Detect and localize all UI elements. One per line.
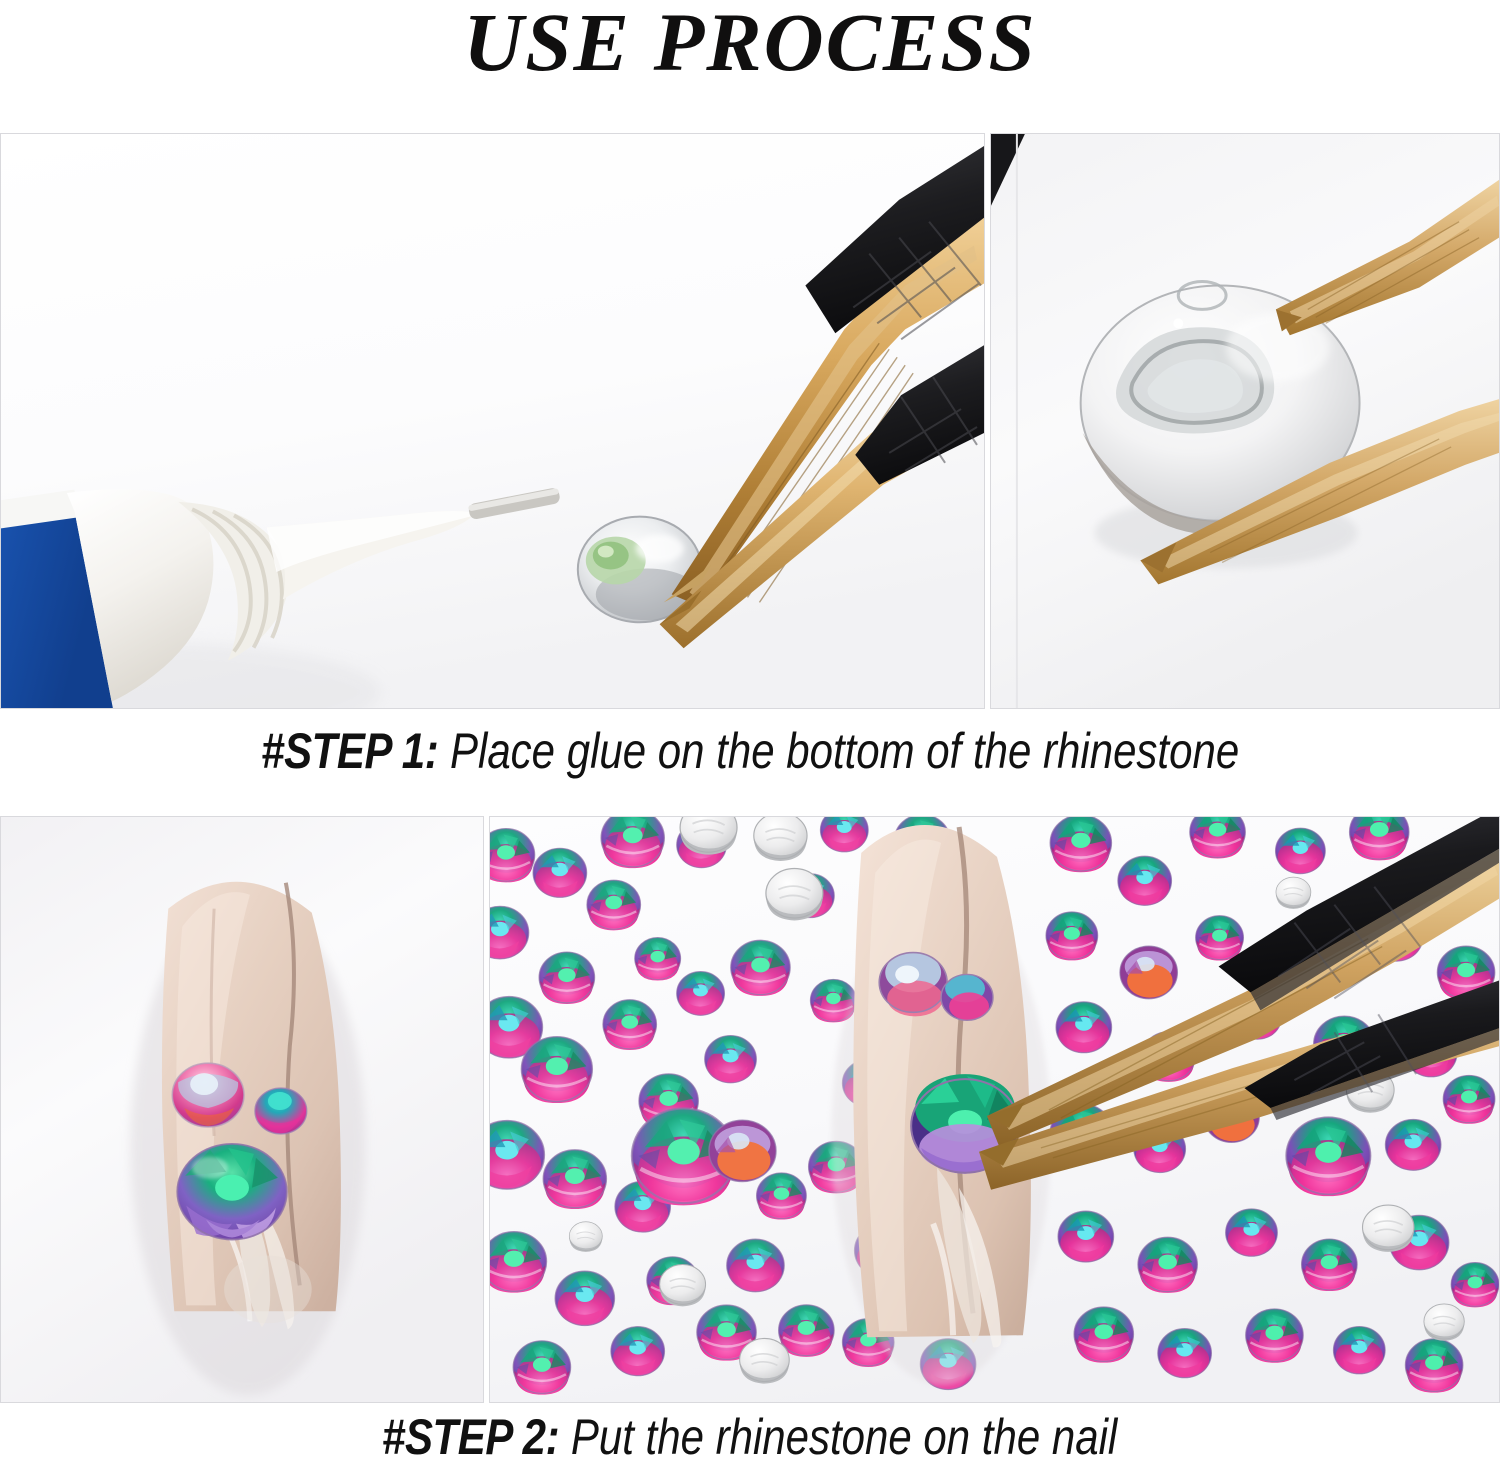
step-1-caption: #STEP 1: Place glue on the bottom of the…	[0, 722, 1500, 780]
panel-rhinestone-backside	[990, 133, 1500, 709]
rhinestone-large	[177, 1144, 287, 1240]
step-2-image-row	[0, 816, 1500, 1403]
use-process-infographic: USE PROCESS	[0, 0, 1500, 1466]
panel-glue-applying-art	[1, 134, 984, 708]
panel-finished-nail	[0, 816, 484, 1403]
step-1-caption-lead: #STEP 1:	[261, 723, 438, 779]
glue-drop	[586, 537, 646, 585]
panel-applying-on-nail	[489, 816, 1500, 1403]
rhinestone-small-2	[941, 974, 993, 1020]
step-1-image-row	[0, 133, 1500, 709]
rhinestone-small	[255, 1088, 307, 1134]
step-2-caption-lead: #STEP 2:	[382, 1409, 559, 1465]
step-2-caption-text: Put the rhinestone on the nail	[560, 1409, 1118, 1465]
panel-glue-applying	[0, 133, 985, 709]
panel-applying-on-nail-art	[490, 817, 1499, 1402]
panel-rhinestone-backside-art	[991, 134, 1499, 708]
rhinestone-medium	[172, 1063, 244, 1127]
panel-finished-nail-art	[1, 817, 483, 1402]
step-1-caption-text: Place glue on the bottom of the rhinesto…	[438, 723, 1239, 779]
step-2-caption: #STEP 2: Put the rhinestone on the nail	[0, 1408, 1500, 1466]
page-title: USE PROCESS	[0, 0, 1500, 90]
